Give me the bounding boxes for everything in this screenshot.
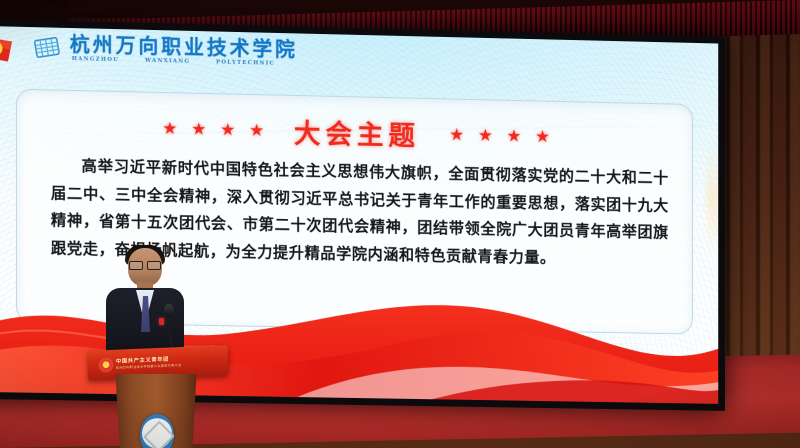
school-name-en-3: POLYTECHNIC [216, 60, 275, 67]
star-icon: ★ [535, 128, 550, 145]
gooseneck-microphone-icon [164, 304, 174, 316]
star-icon: ★ [249, 121, 264, 138]
star-icon: ★ [162, 119, 177, 136]
lectern-banner-text: 中国共产主义青年团 杭州万向职业技术学院第六次团员代表大会 [116, 357, 181, 370]
school-circular-emblem-icon [140, 414, 174, 448]
lectern-banner-subtitle: 杭州万向职业技术学院第六次团员代表大会 [116, 364, 181, 370]
star-icon: ★ [220, 121, 235, 138]
cyl-emblem-icon [0, 31, 22, 72]
school-logo-text: 杭州万向职业技术学院 HANGZHOU WANXIANG POLYTECHNIC [70, 34, 298, 68]
star-icon: ★ [507, 127, 522, 144]
stars-left: ★ ★ ★ ★ [162, 119, 264, 138]
screen-bezel-glare [707, 144, 719, 253]
star-icon: ★ [449, 126, 464, 143]
star-icon: ★ [191, 120, 206, 137]
conference-hall-scene: 杭州万向职业技术学院 HANGZHOU WANXIANG POLYTECHNIC… [0, 0, 800, 448]
star-icon: ★ [478, 126, 493, 143]
slide-title: 大会主题 [294, 111, 420, 152]
speaking-lectern: 中国共产主义青年团 杭州万向职业技术学院第六次团员代表大会 [88, 248, 228, 448]
stars-right: ★ ★ ★ ★ [449, 126, 550, 145]
school-name-cn: 杭州万向职业技术学院 [70, 34, 298, 59]
school-name-en-2: WANXIANG [145, 59, 190, 65]
lapel-pin-icon [159, 318, 164, 325]
presenter-glasses [129, 261, 161, 268]
school-name-en-1: HANGZHOU [72, 57, 119, 63]
logo-mark-icon [32, 33, 62, 62]
communist-youth-league-seal-icon [100, 359, 112, 372]
school-logo: 杭州万向职业技术学院 HANGZHOU WANXIANG POLYTECHNIC [32, 33, 298, 68]
slide-title-row: ★ ★ ★ ★ 大会主题 ★ ★ ★ ★ [17, 108, 692, 156]
